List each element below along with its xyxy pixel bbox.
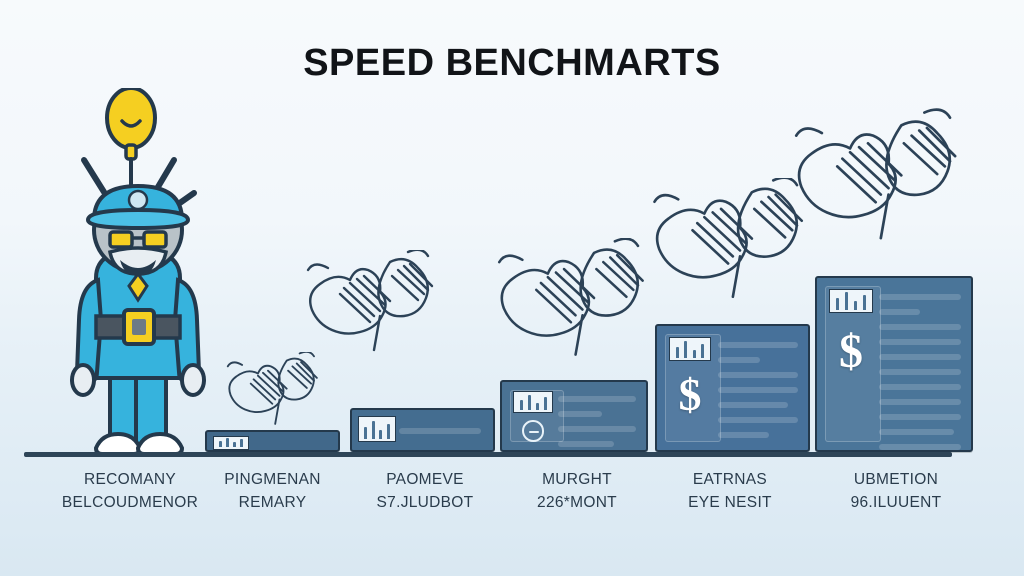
- sketch-rocket-growth-icon-5: [786, 108, 991, 276]
- mascot-svg: [52, 88, 222, 460]
- x-label-1-line2: REMARY: [190, 491, 355, 514]
- x-label-1: PINGMENAN REMARY: [190, 468, 355, 514]
- bar-chart-badge-icon-5: [829, 289, 873, 313]
- sketch-rocket-growth-icon-3: [490, 238, 675, 388]
- bar-chart-badge-icon-1: [213, 436, 249, 450]
- x-label-4-line2: EYE NESIT: [650, 491, 810, 514]
- infographic-canvas: SPEED BENCHMARTS: [0, 0, 1024, 576]
- dollar-icon-4: $: [657, 368, 723, 421]
- x-label-4: EATRNAS EYE NESIT: [650, 468, 810, 514]
- bar-4[interactable]: $: [655, 324, 810, 452]
- baseline-axis: [24, 452, 952, 457]
- x-label-5-line2: 96.ILUUENT: [810, 491, 982, 514]
- x-label-3: MURGHT 226*MONT: [497, 468, 657, 514]
- cap-emblem-icon: [129, 191, 147, 209]
- lightbulb-icon: [107, 88, 155, 192]
- sketch-rocket-growth-icon-2: [300, 250, 460, 378]
- x-label-2: PAOMEVE S7.JLUDBOT: [345, 468, 505, 514]
- page-title: SPEED BENCHMARTS: [0, 42, 1024, 85]
- x-label-5-line1: UBMETION: [810, 468, 982, 491]
- x-axis-labels: RECOMANY BELCOUDMENOR PINGMENAN REMARY P…: [0, 468, 1024, 528]
- bar-text-lines-2: [399, 428, 481, 440]
- bar-chart-badge-icon-3: [513, 391, 553, 413]
- dollar-icon-5: $: [817, 324, 885, 379]
- bar-3[interactable]: [500, 380, 648, 452]
- x-label-4-line1: EATRNAS: [650, 468, 810, 491]
- bar-5[interactable]: $: [815, 276, 973, 452]
- bar-chart-badge-icon-4: [669, 337, 711, 361]
- x-label-5: UBMETION 96.ILUUENT: [810, 468, 982, 514]
- x-label-2-line2: S7.JLUDBOT: [345, 491, 505, 514]
- bar-chart-badge-icon-2: [358, 416, 396, 442]
- bar-2[interactable]: [350, 408, 495, 452]
- x-label-1-line1: PINGMENAN: [190, 468, 355, 491]
- sketch-rocket-growth-icon-4: [645, 178, 835, 330]
- mascot-body: [72, 250, 204, 454]
- mascot-illustration: [52, 88, 222, 460]
- x-label-3-line2: 226*MONT: [497, 491, 657, 514]
- x-label-3-line1: MURGHT: [497, 468, 657, 491]
- bar-1[interactable]: [205, 430, 340, 452]
- coin-icon-3: [522, 420, 544, 442]
- bar-text-lines-4: [718, 342, 798, 440]
- bar-text-lines-5: [879, 294, 961, 440]
- bar-text-lines-3: [558, 396, 636, 440]
- x-label-2-line1: PAOMEVE: [345, 468, 505, 491]
